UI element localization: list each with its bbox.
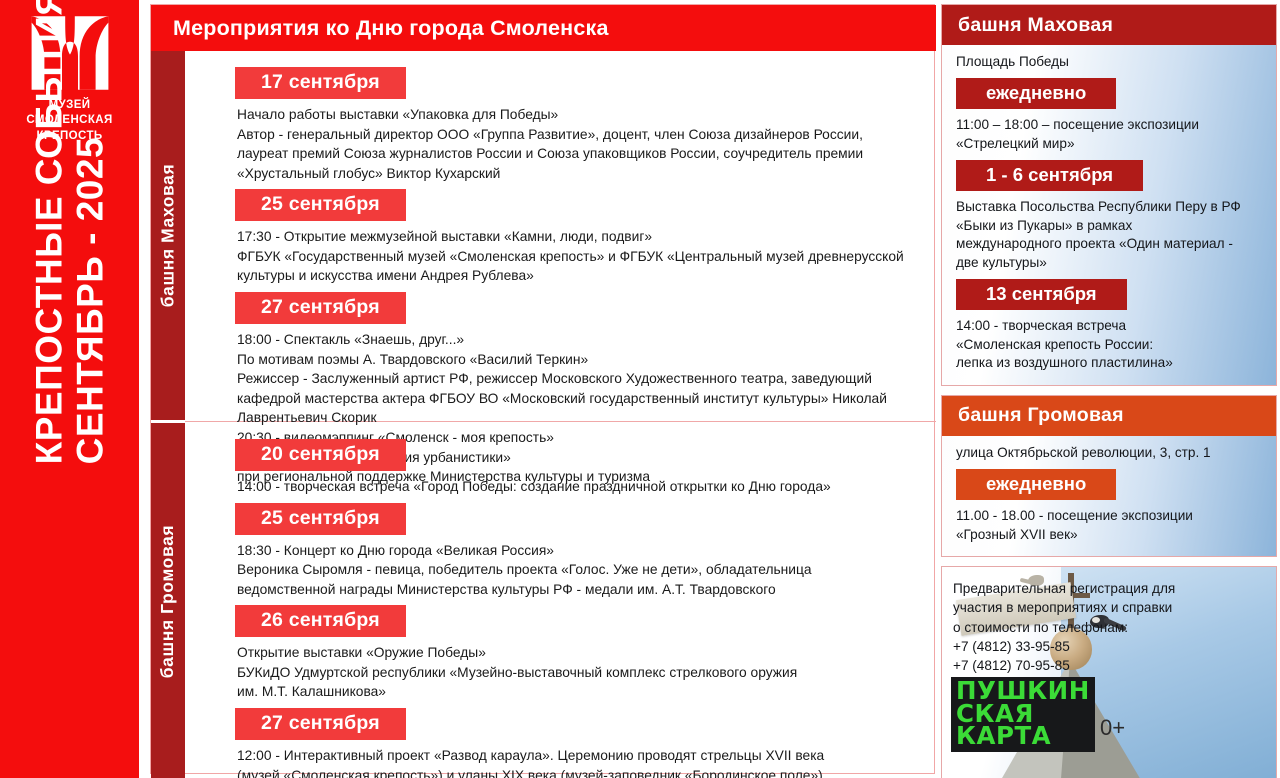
main-events-panel: Мероприятия ко Дню города Смоленска башн… — [150, 4, 935, 774]
event-description-line: Открытие выставки «Оружие Победы» — [237, 643, 922, 663]
event-description-line: 18:00 - Спектакль «Знаешь, друг...» — [237, 330, 922, 350]
schedule-text-line: две культуры» — [956, 254, 1264, 272]
event-description-line: ведомственной награды Министерства культ… — [237, 580, 922, 600]
event-date-chip: 20 сентября — [235, 439, 406, 471]
tower-info-cards: башня МаховаяПлощадь Победыежедневно11:0… — [941, 4, 1277, 557]
schedule-text-line: международного проекта «Один материал - — [956, 235, 1264, 253]
schedule-text-line: «Грозный XVII век» — [956, 526, 1264, 544]
section-side-label-mahovaya: башня Маховая — [151, 51, 185, 420]
registration-info-line: +7 (4812) 33-95-85 — [953, 637, 1173, 656]
schedule-text-line: 11:00 – 18:00 – посещение экспозиции — [956, 116, 1264, 134]
schedule-date-chip: ежедневно — [956, 469, 1116, 500]
vertical-title-line-2: СЕНТЯБРЬ - 2025 — [70, 0, 111, 464]
event-date-chip: 25 сентября — [235, 189, 406, 221]
event-description-line: 12:00 - Интерактивный проект «Развод кар… — [237, 746, 922, 766]
schedule-date-chip: 1 - 6 сентября — [956, 160, 1143, 191]
event-description-line: Автор - генеральный директор ООО «Группа… — [237, 125, 922, 145]
event-description-line: ФГБУК «Государственный музей «Смоленская… — [237, 247, 922, 267]
registration-info-line: Предварительная регистрация для — [953, 579, 1173, 598]
event-date-chip: 27 сентября — [235, 708, 406, 740]
schedule-date-chip: 13 сентября — [956, 279, 1127, 310]
schedule-text-block: улица Октябрьской революции, 3, стр. 1 — [956, 444, 1264, 462]
schedule-date-chip: ежедневно — [956, 78, 1116, 109]
schedule-text-block: Выставка Посольства Республики Перу в РФ… — [956, 198, 1264, 272]
event-description-line: культуры и искусства имени Андрея Рублев… — [237, 266, 922, 286]
event-date-chip: 17 сентября — [235, 67, 406, 99]
poster-root: МУЗЕЙ СМОЛЕНСКАЯ КРЕПОСТЬ КРЕПОСТНЫЕ СОБ… — [0, 0, 1280, 778]
event-description-line: Вероника Сыромля - певица, победитель пр… — [237, 560, 922, 580]
registration-info-line: +7 (4812) 70-95-85 — [953, 656, 1173, 675]
section-side-label-text: башня Маховая — [158, 164, 179, 308]
tower-card-title: башня Маховая — [942, 5, 1276, 45]
schedule-text-line: «Смоленская крепость России: — [956, 336, 1264, 354]
registration-info-line: о стоимости по телефонам: — [953, 618, 1173, 637]
main-panel-title: Мероприятия ко Дню города Смоленска — [151, 5, 936, 51]
event-date-chip: 26 сентября — [235, 605, 406, 637]
schedule-text-line: 14:00 - творческая встреча — [956, 317, 1264, 335]
tower-card-title: башня Громовая — [942, 396, 1276, 436]
schedule-text-line: 11.00 - 18.00 - посещение экспозиции — [956, 507, 1264, 525]
event-description-line: кафедрой мастерства актера ФГБОУ ВО «Мос… — [237, 389, 922, 409]
event-description: Начало работы выставки «Упаковка для Поб… — [235, 105, 922, 183]
vertical-title-line-1: КРЕПОСТНЫЕ СОБЫТИЯ — [28, 0, 69, 464]
contact-photo-card: Предварительная регистрация дляучастия в… — [941, 566, 1277, 778]
event-description-line: лауреат премий Союза журналистов России … — [237, 144, 922, 164]
schedule-text-block: Площадь Победы — [956, 53, 1264, 71]
registration-info-line: участия в мероприятиях и справки — [953, 598, 1173, 617]
left-sidebar: МУЗЕЙ СМОЛЕНСКАЯ КРЕПОСТЬ КРЕПОСТНЫЕ СОБ… — [0, 0, 139, 778]
tower-card-body: улица Октябрьской революции, 3, стр. 1еж… — [942, 436, 1276, 556]
tower-info-card: башня Громоваяулица Октябрьской революци… — [941, 395, 1277, 557]
event-description-line: им. М.Т. Калашникова» — [237, 682, 922, 702]
event-description-line: 14:00 - творческая встреча «Город Победы… — [237, 477, 922, 497]
schedule-text-block: 11.00 - 18.00 - посещение экспозиции«Гро… — [956, 507, 1264, 544]
schedule-text-line: лепка из воздушного пластилина» — [956, 354, 1264, 372]
event-description-line: 18:30 - Концерт ко Дню города «Великая Р… — [237, 541, 922, 561]
schedule-text-line: «Стрелецкий мир» — [956, 135, 1264, 153]
tower-card-body: Площадь Победыежедневно11:00 – 18:00 – п… — [942, 45, 1276, 385]
event-description: 14:00 - творческая встреча «Город Победы… — [235, 477, 922, 497]
schedule-text-block: 14:00 - творческая встреча«Смоленская кр… — [956, 317, 1264, 372]
event-description-line: По мотивам поэмы А. Твардовского «Васили… — [237, 350, 922, 370]
event-description: 12:00 - Интерактивный проект «Развод кар… — [235, 746, 922, 778]
event-description: 18:30 - Концерт ко Дню города «Великая Р… — [235, 541, 922, 600]
schedule-text-block: 11:00 – 18:00 – посещение экспозиции«Стр… — [956, 116, 1264, 153]
vertical-poster-title: КРЕПОСТНЫЕ СОБЫТИЯ СЕНТЯБРЬ - 2025 — [0, 185, 139, 765]
schedule-text-line: Выставка Посольства Республики Перу в РФ — [956, 198, 1264, 216]
event-description-line: БУКиДО Удмуртской республики «Музейно-вы… — [237, 663, 922, 683]
schedule-text-line: «Быки из Пукары» в рамках — [956, 217, 1264, 235]
event-date-chip: 25 сентября — [235, 503, 406, 535]
pushkin-card-logo: ПУШКИН СКАЯ КАРТА — [951, 677, 1095, 752]
event-description-line: 17:30 - Открытие межмузейной выставки «К… — [237, 227, 922, 247]
right-column: башня МаховаяПлощадь Победыежедневно11:0… — [941, 4, 1277, 778]
schedule-text-line: Площадь Победы — [956, 53, 1264, 71]
pushkin-card-line-3: КАРТА — [956, 725, 1090, 748]
schedule-text-line: улица Октябрьской революции, 3, стр. 1 — [956, 444, 1264, 462]
event-description-line: Режиссер - Заслуженный артист РФ, режисс… — [237, 369, 922, 389]
events-list-gromovaya: 20 сентября14:00 - творческая встреча «Г… — [185, 423, 936, 778]
event-description: 17:30 - Открытие межмузейной выставки «К… — [235, 227, 922, 286]
event-description-line: Начало работы выставки «Упаковка для Поб… — [237, 105, 922, 125]
event-description-line: (музей «Смоленская крепость») и уланы XI… — [237, 766, 922, 778]
event-description: Открытие выставки «Оружие Победы»БУКиДО … — [235, 643, 922, 702]
tower-info-card: башня МаховаяПлощадь Победыежедневно11:0… — [941, 4, 1277, 386]
section-side-label-text: башня Громовая — [158, 524, 179, 677]
event-description-line: «Хрустальный глобус» Виктор Кухарский — [237, 164, 922, 184]
age-rating-badge: 0+ — [1100, 715, 1125, 741]
event-date-chip: 27 сентября — [235, 292, 406, 324]
section-side-label-gromovaya: башня Громовая — [151, 423, 185, 778]
